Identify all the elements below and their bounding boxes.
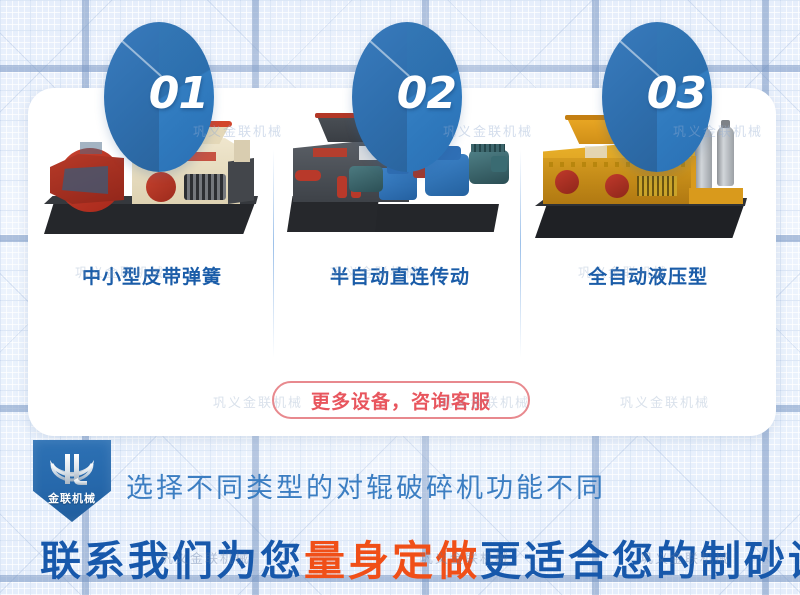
card-divider-2 xyxy=(520,150,521,358)
headline-part-2: 更适合您的制砂设备 xyxy=(480,537,800,585)
card-divider-1 xyxy=(273,150,274,358)
headline-highlight: 量身定做 xyxy=(304,537,480,585)
step-badge-2: 02 xyxy=(352,22,462,172)
product-label-1: 中小型皮带弹簧 xyxy=(32,262,272,289)
step-badge-1: 01 xyxy=(104,22,214,172)
consult-service-label: 更多设备，咨询客服 xyxy=(311,387,491,414)
logo-text: 金联机械 xyxy=(33,490,111,506)
consult-service-button[interactable]: 更多设备，咨询客服 xyxy=(272,381,530,419)
headline-part-1: 联系我们为您 xyxy=(40,537,304,585)
logo-monogram-icon xyxy=(33,452,111,492)
product-label-2: 半自动直连传动 xyxy=(280,262,520,289)
product-label-3: 全自动液压型 xyxy=(528,262,768,289)
badge-number-2: 02 xyxy=(397,68,456,119)
badge-number-3: 03 xyxy=(647,68,706,119)
company-logo: 金联机械 xyxy=(33,440,111,522)
badge-number-1: 01 xyxy=(149,68,208,119)
step-badge-3: 03 xyxy=(602,22,712,172)
footer-subtitle: 选择不同类型的对辊破碎机功能不同 xyxy=(126,466,606,505)
footer-headline: 联系我们为您量身定做更适合您的制砂设备 xyxy=(40,527,770,587)
promo-banner: 01 02 03 中小型皮带弹簧 半自动直连传动 全自动液压型 更多设备，咨询客… xyxy=(0,0,800,595)
